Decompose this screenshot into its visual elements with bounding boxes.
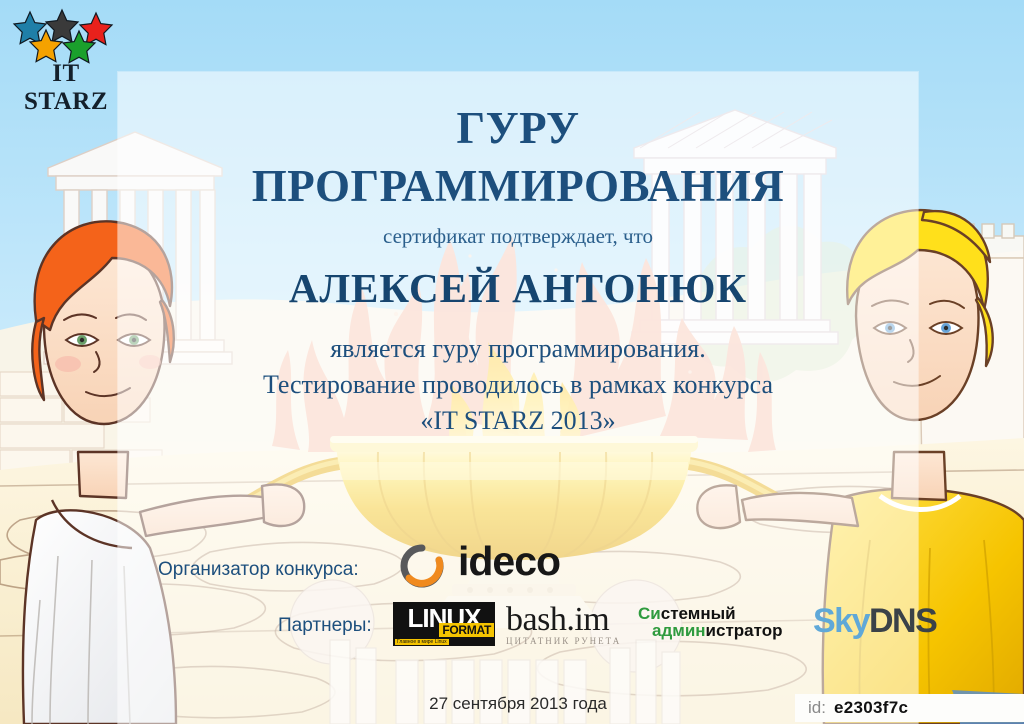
recipient-name: АЛЕКСЕЙ АНТОНЮК [118,264,918,312]
body-line-1: является гуру программирования. [118,334,918,364]
certificate-title-line1: ГУРУ [118,102,918,154]
certificate-id-label: id: [808,698,826,718]
certificate-canvas: IT STARZ ГУРУ ПРОГРАММИРОВАНИЯ сертифика… [0,0,1024,724]
partners-label: Партнеры: [278,615,372,637]
sysadm-line1: Системный [638,605,803,622]
skydns-wordmark: SkyDNS [813,602,936,640]
linux-format-tagline: Главное в мире Linux [395,639,449,645]
stars-icon [10,8,120,64]
body-line-3: «IT STARZ 2013» [118,406,918,436]
partners-logos: LINUX FORMAT Главное в мире Linux bash.i… [393,602,495,648]
sysadm-line2-black: истратор [706,621,783,640]
brand-logo: IT STARZ [10,8,120,96]
sysadm-line2: администратор [638,622,803,639]
linux-format-badge: FORMAT [439,623,494,637]
certificate-title-line2: ПРОГРАММИРОВАНИЯ [118,160,918,212]
ideco-mark-icon [398,544,446,588]
partner-logo-linux-format: LINUX FORMAT Главное в мире Linux [393,602,495,646]
partner-logo-bash-im: bash.im ЦИТАТНИК РУНЕТА [506,602,626,646]
sysadm-line2-green: админ [652,621,706,640]
certificate-subtitle: сертификат подтверждает, что [118,224,918,249]
certificate-id-value: e2303f7c [834,698,908,718]
ideco-wordmark: ideco [458,538,560,585]
brand-name: IT STARZ [14,60,118,116]
skydns-dns: DNS [869,602,936,640]
bash-im-main: bash.im [506,602,626,638]
partner-logo-skydns: SkyDNS [813,602,936,640]
organizer-label: Организатор конкурса: [158,559,359,581]
skydns-sky: Sky [813,602,869,640]
certificate-id-band: id: e2303f7c [795,694,1024,722]
body-line-2: Тестирование проводилось в рамках конкур… [118,370,918,400]
certificate-content: ГУРУ ПРОГРАММИРОВАНИЯ сертификат подтвер… [118,72,918,724]
partner-logo-sistemny-administrator: Системный администратор [638,602,803,639]
bash-im-sub: ЦИТАТНИК РУНЕТА [506,636,626,646]
